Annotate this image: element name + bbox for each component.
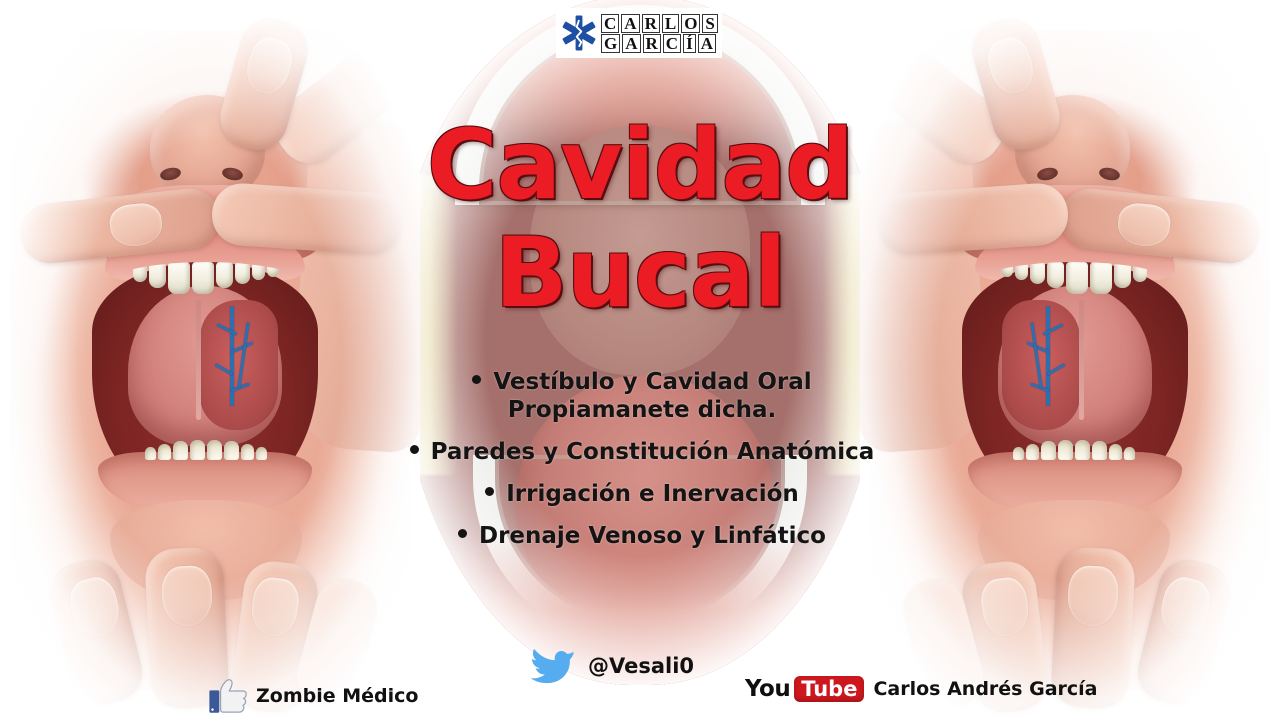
list-item-label: Paredes y Constitución Anatómica [431, 439, 875, 465]
youtube-tube-badge: Tube [794, 676, 864, 702]
logo-char: R [642, 14, 660, 33]
left-anatomy-illustration [0, 0, 420, 720]
palate-shape [530, 125, 750, 375]
lingual-frenulum [1079, 300, 1084, 420]
logo-char: L [662, 14, 679, 33]
logo-char: Í [683, 34, 696, 53]
sublingual-vein-group [212, 306, 272, 426]
facebook-thumbs-up-icon[interactable] [208, 678, 248, 714]
carlos-garcia-logo: C A R L O S G A R C Í A [556, 8, 722, 58]
bullet-dot-icon [485, 487, 494, 496]
bullet-dot-icon [472, 375, 481, 384]
facebook-credit[interactable]: Zombie Médico [208, 678, 418, 714]
agenda-bullet-list: Vestíbulo y Cavidad Oral Propiamanete di… [390, 368, 890, 564]
logo-char: A [698, 34, 716, 53]
twitter-handle-label: @Vesali0 [588, 654, 694, 678]
facebook-label: Zombie Médico [256, 685, 418, 707]
list-item-label: Vestíbulo y Cavidad Oral Propiamanete di… [493, 369, 811, 423]
bullet-dot-icon [458, 529, 467, 538]
logo-char: C [601, 14, 619, 33]
finger-middle-upper [210, 181, 404, 256]
slide-root: C A R L O S G A R C Í A Cavidad Bucal Ve… [0, 0, 1280, 720]
list-item: Vestíbulo y Cavidad Oral Propiamanete di… [390, 368, 890, 424]
logo-char: A [621, 14, 639, 33]
youtube-logo[interactable]: You Tube [745, 676, 864, 702]
logo-char: R [643, 34, 661, 53]
logo-char: C [663, 34, 681, 53]
center-oral-cavity-illustration [395, 0, 885, 685]
finger-middle-upper [876, 181, 1070, 256]
logo-char: A [622, 34, 640, 53]
list-item: Paredes y Constitución Anatómica [390, 438, 890, 466]
list-item-label: Drenaje Venoso y Linfático [479, 523, 826, 549]
sublingual-vein-group [1008, 306, 1068, 426]
lower-teeth-row [108, 430, 304, 460]
list-item: Irrigación e Inervación [390, 480, 890, 508]
logo-char: S [702, 14, 717, 33]
twitter-bird-icon[interactable] [528, 646, 576, 686]
youtube-credit[interactable]: You Tube Carlos Andrés García [745, 676, 1098, 702]
bullet-dot-icon [410, 445, 419, 454]
lingual-frenulum [196, 300, 201, 420]
list-item: Drenaje Venoso y Linfático [390, 522, 890, 550]
logo-char: O [681, 14, 700, 33]
star-of-life-icon [560, 13, 598, 53]
twitter-credit[interactable]: @Vesali0 [528, 646, 694, 686]
logo-line-carlos: C A R L O S [601, 14, 718, 33]
list-item-label: Irrigación e Inervación [506, 481, 799, 507]
youtube-channel-label: Carlos Andrés García [873, 678, 1097, 700]
logo-wordmark: C A R L O S G A R C Í A [601, 14, 718, 53]
logo-char: G [601, 34, 620, 53]
right-anatomy-illustration [860, 0, 1280, 720]
youtube-you-text: You [745, 676, 790, 702]
logo-line-garcia: G A R C Í A [601, 34, 718, 53]
lower-teeth-row [976, 430, 1172, 460]
